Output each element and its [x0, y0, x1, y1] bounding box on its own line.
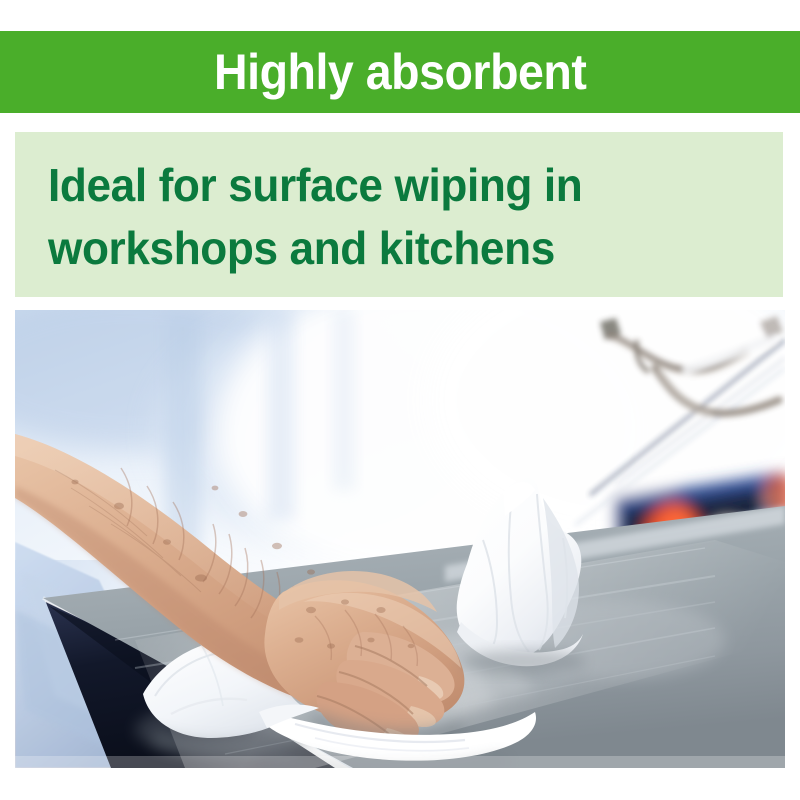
subheading-line-1: Ideal for surface wiping in	[48, 154, 720, 217]
photo-illustration	[15, 310, 785, 768]
subheading-line-2: workshops and kitchens	[48, 217, 720, 280]
banner-title: Highly absorbent	[214, 47, 586, 97]
product-usage-photo	[15, 310, 785, 768]
product-feature-card: Highly absorbent Ideal for surface wipin…	[0, 0, 800, 800]
banner-highly-absorbent: Highly absorbent	[0, 31, 800, 113]
subheading-panel: Ideal for surface wiping in workshops an…	[15, 132, 783, 297]
subheading-text: Ideal for surface wiping in workshops an…	[48, 154, 720, 280]
